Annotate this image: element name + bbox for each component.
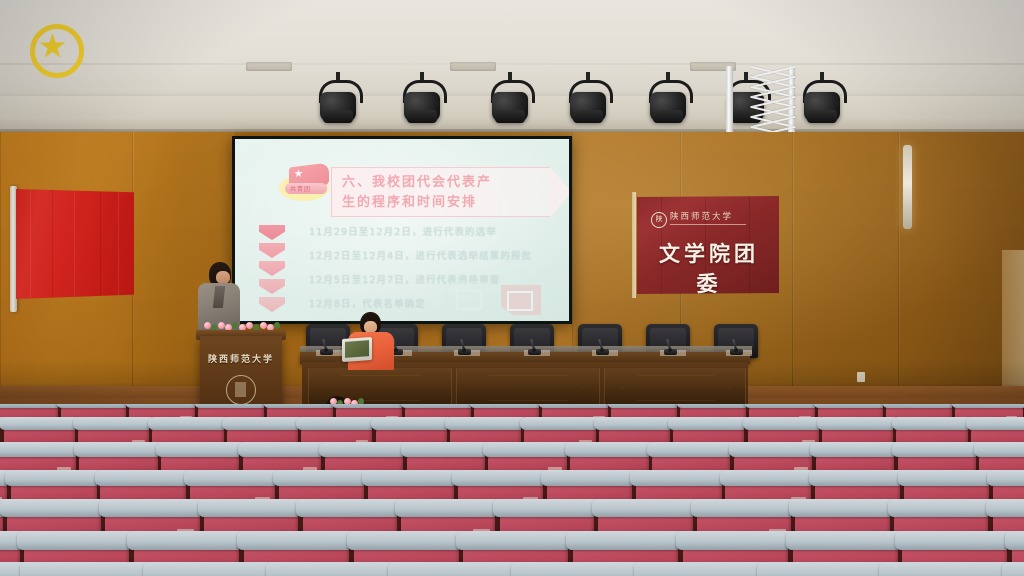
laptop-icon [342,338,374,364]
university-logo-icon: 陕 [651,212,667,228]
audience-seat[interactable] [268,570,400,576]
microphone-icon [394,348,398,352]
communist-youth-league-flag [16,189,134,299]
slide-line: 11月29日至12月2日，进行代表的选举 [309,227,559,239]
microphone-icon [462,348,466,352]
flag-pole [10,186,17,312]
stage-light [566,80,610,130]
slide-flag-icon: 共青团 [279,165,333,203]
audience-area [0,404,1024,576]
chevron-down-icon [259,243,285,258]
auditorium-photo: 共青团 六、我校团代会代表产 生的程序和时间安排 11月29日至12月2日，进行… [0,0,1024,576]
audience-seat[interactable] [391,570,523,576]
audience-seat[interactable] [146,570,278,576]
slide-decoration-icons [445,279,563,319]
banner-rope [632,192,636,298]
department-banner: 陕 陕西师范大学 文学院团委 [637,196,779,294]
audience-seat[interactable] [882,570,1014,576]
microphone-icon [324,348,328,352]
audience-seat[interactable] [1005,570,1024,576]
projection-screen: 共青团 六、我校团代会代表产 生的程序和时间安排 11月29日至12月2日，进行… [235,139,569,321]
microphone-icon [734,348,738,352]
audience-seat[interactable] [759,570,891,576]
audience-seat[interactable] [23,570,155,576]
slide-title: 六、我校团代会代表产 生的程序和时间安排 [342,173,542,213]
banner-university-name: 陕西师范大学 [670,210,733,222]
stage-light [316,80,360,130]
microphone-icon [532,348,536,352]
chevron-down-icon [259,225,285,240]
slide-title-banner: 六、我校团代会代表产 生的程序和时间安排 [331,167,550,217]
slide-chevron-arrows [259,225,285,315]
university-seal-icon [226,375,256,405]
stage-light [488,80,532,130]
stage-light [646,80,690,130]
chevron-down-icon [259,261,285,276]
slide-line: 12月2日至12月4日，进行代表选举结果的报批 [309,251,559,263]
ceiling-seam [0,63,1024,65]
microphone-icon [668,348,672,352]
stage-light [400,80,444,130]
slide-flag-band-text: 共青团 [290,184,311,193]
ceiling-vent [450,62,496,71]
banner-main-text: 文学院团委 [653,238,765,298]
microphone-icon [600,348,604,352]
chevron-down-icon [259,297,285,312]
ceiling-vent [246,62,292,71]
chevron-down-icon [259,279,285,294]
audience-seat[interactable] [637,570,769,576]
podium-label: 陕西师范大学 [205,352,277,365]
audience-seat[interactable] [514,570,646,576]
wall-strip-light [903,145,912,229]
